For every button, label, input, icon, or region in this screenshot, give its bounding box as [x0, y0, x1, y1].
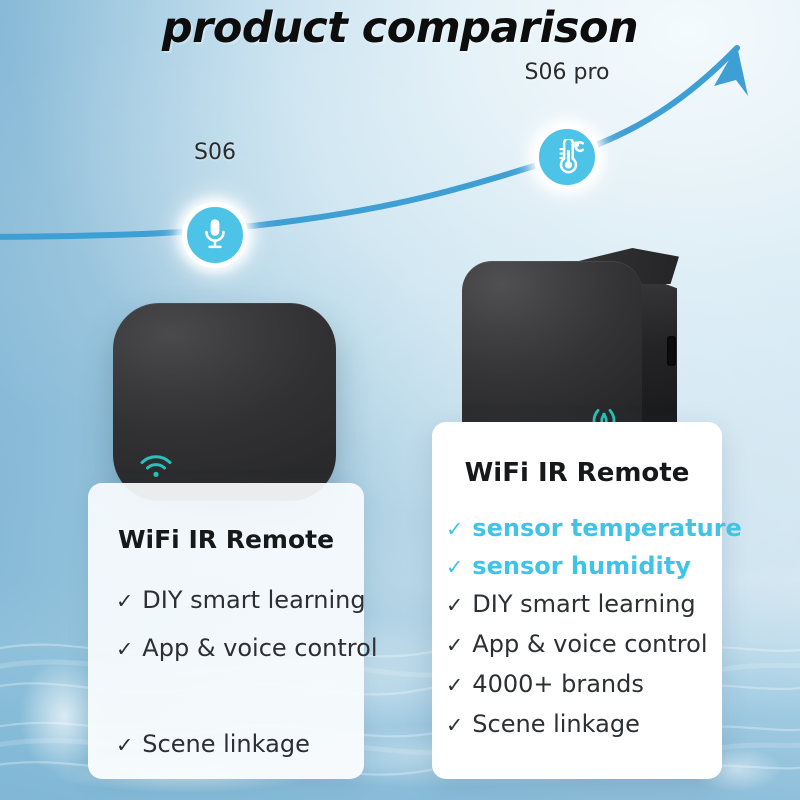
feature-item: ✓ 4000+ brands [446, 670, 716, 698]
feature-label: DIY smart learning [472, 590, 695, 618]
feature-item: ✓ App & voice control [446, 630, 716, 658]
check-icon: ✓ [446, 675, 463, 696]
feature-label: App & voice control [472, 630, 707, 658]
feature-label: DIY smart learning [142, 586, 365, 614]
feature-list-s06-pro: ✓ sensor temperature ✓ sensor humidity ✓… [446, 514, 716, 750]
product-card-s06: WiFi IR Remote ✓ DIY smart learning ✓ Ap… [88, 483, 364, 779]
card-title-s06-pro: WiFi IR Remote [432, 458, 722, 488]
feature-label: 4000+ brands [472, 670, 644, 698]
check-icon: ✓ [116, 591, 133, 612]
feature-item-highlight: ✓ sensor humidity [446, 552, 716, 580]
microphone-icon [200, 218, 230, 252]
feature-label: sensor temperature [472, 514, 742, 542]
feature-item-highlight: ✓ sensor temperature [446, 514, 716, 542]
thermometer-icon [550, 139, 584, 175]
card-title-s06: WiFi IR Remote [88, 525, 364, 554]
feature-item: ✓ Scene linkage [446, 710, 716, 738]
check-icon: ✓ [446, 519, 463, 540]
feature-label: sensor humidity [472, 552, 691, 580]
feature-item: ✓ App & voice control [116, 634, 350, 662]
check-icon: ✓ [446, 715, 463, 736]
check-icon: ✓ [446, 557, 463, 578]
feature-list-s06: ✓ DIY smart learning ✓ App & voice contr… [116, 586, 350, 778]
check-icon: ✓ [116, 639, 133, 660]
thermometer-badge[interactable] [534, 124, 600, 190]
feature-label: Scene linkage [142, 730, 310, 758]
device-s06 [113, 303, 336, 501]
check-icon: ✓ [446, 595, 463, 616]
check-icon: ✓ [116, 735, 133, 756]
product-comparison-infographic: product comparison S06 S06 pro [0, 0, 800, 800]
timeline-node-s06-label: S06 [194, 140, 236, 165]
feature-item: ✓ DIY smart learning [116, 586, 350, 614]
check-icon: ✓ [446, 635, 463, 656]
usb-port [667, 336, 676, 366]
timeline-node-s06-pro-label: S06 pro [525, 60, 610, 85]
feature-label: Scene linkage [472, 710, 640, 738]
feature-label: App & voice control [142, 634, 377, 662]
microphone-badge[interactable] [182, 202, 248, 268]
wifi-icon [139, 453, 173, 479]
product-card-s06-pro: WiFi IR Remote ✓ sensor temperature ✓ se… [432, 422, 722, 779]
feature-item: ✓ DIY smart learning [446, 590, 716, 618]
page-title: product comparison [0, 3, 800, 53]
feature-item: ✓ Scene linkage [116, 730, 350, 758]
